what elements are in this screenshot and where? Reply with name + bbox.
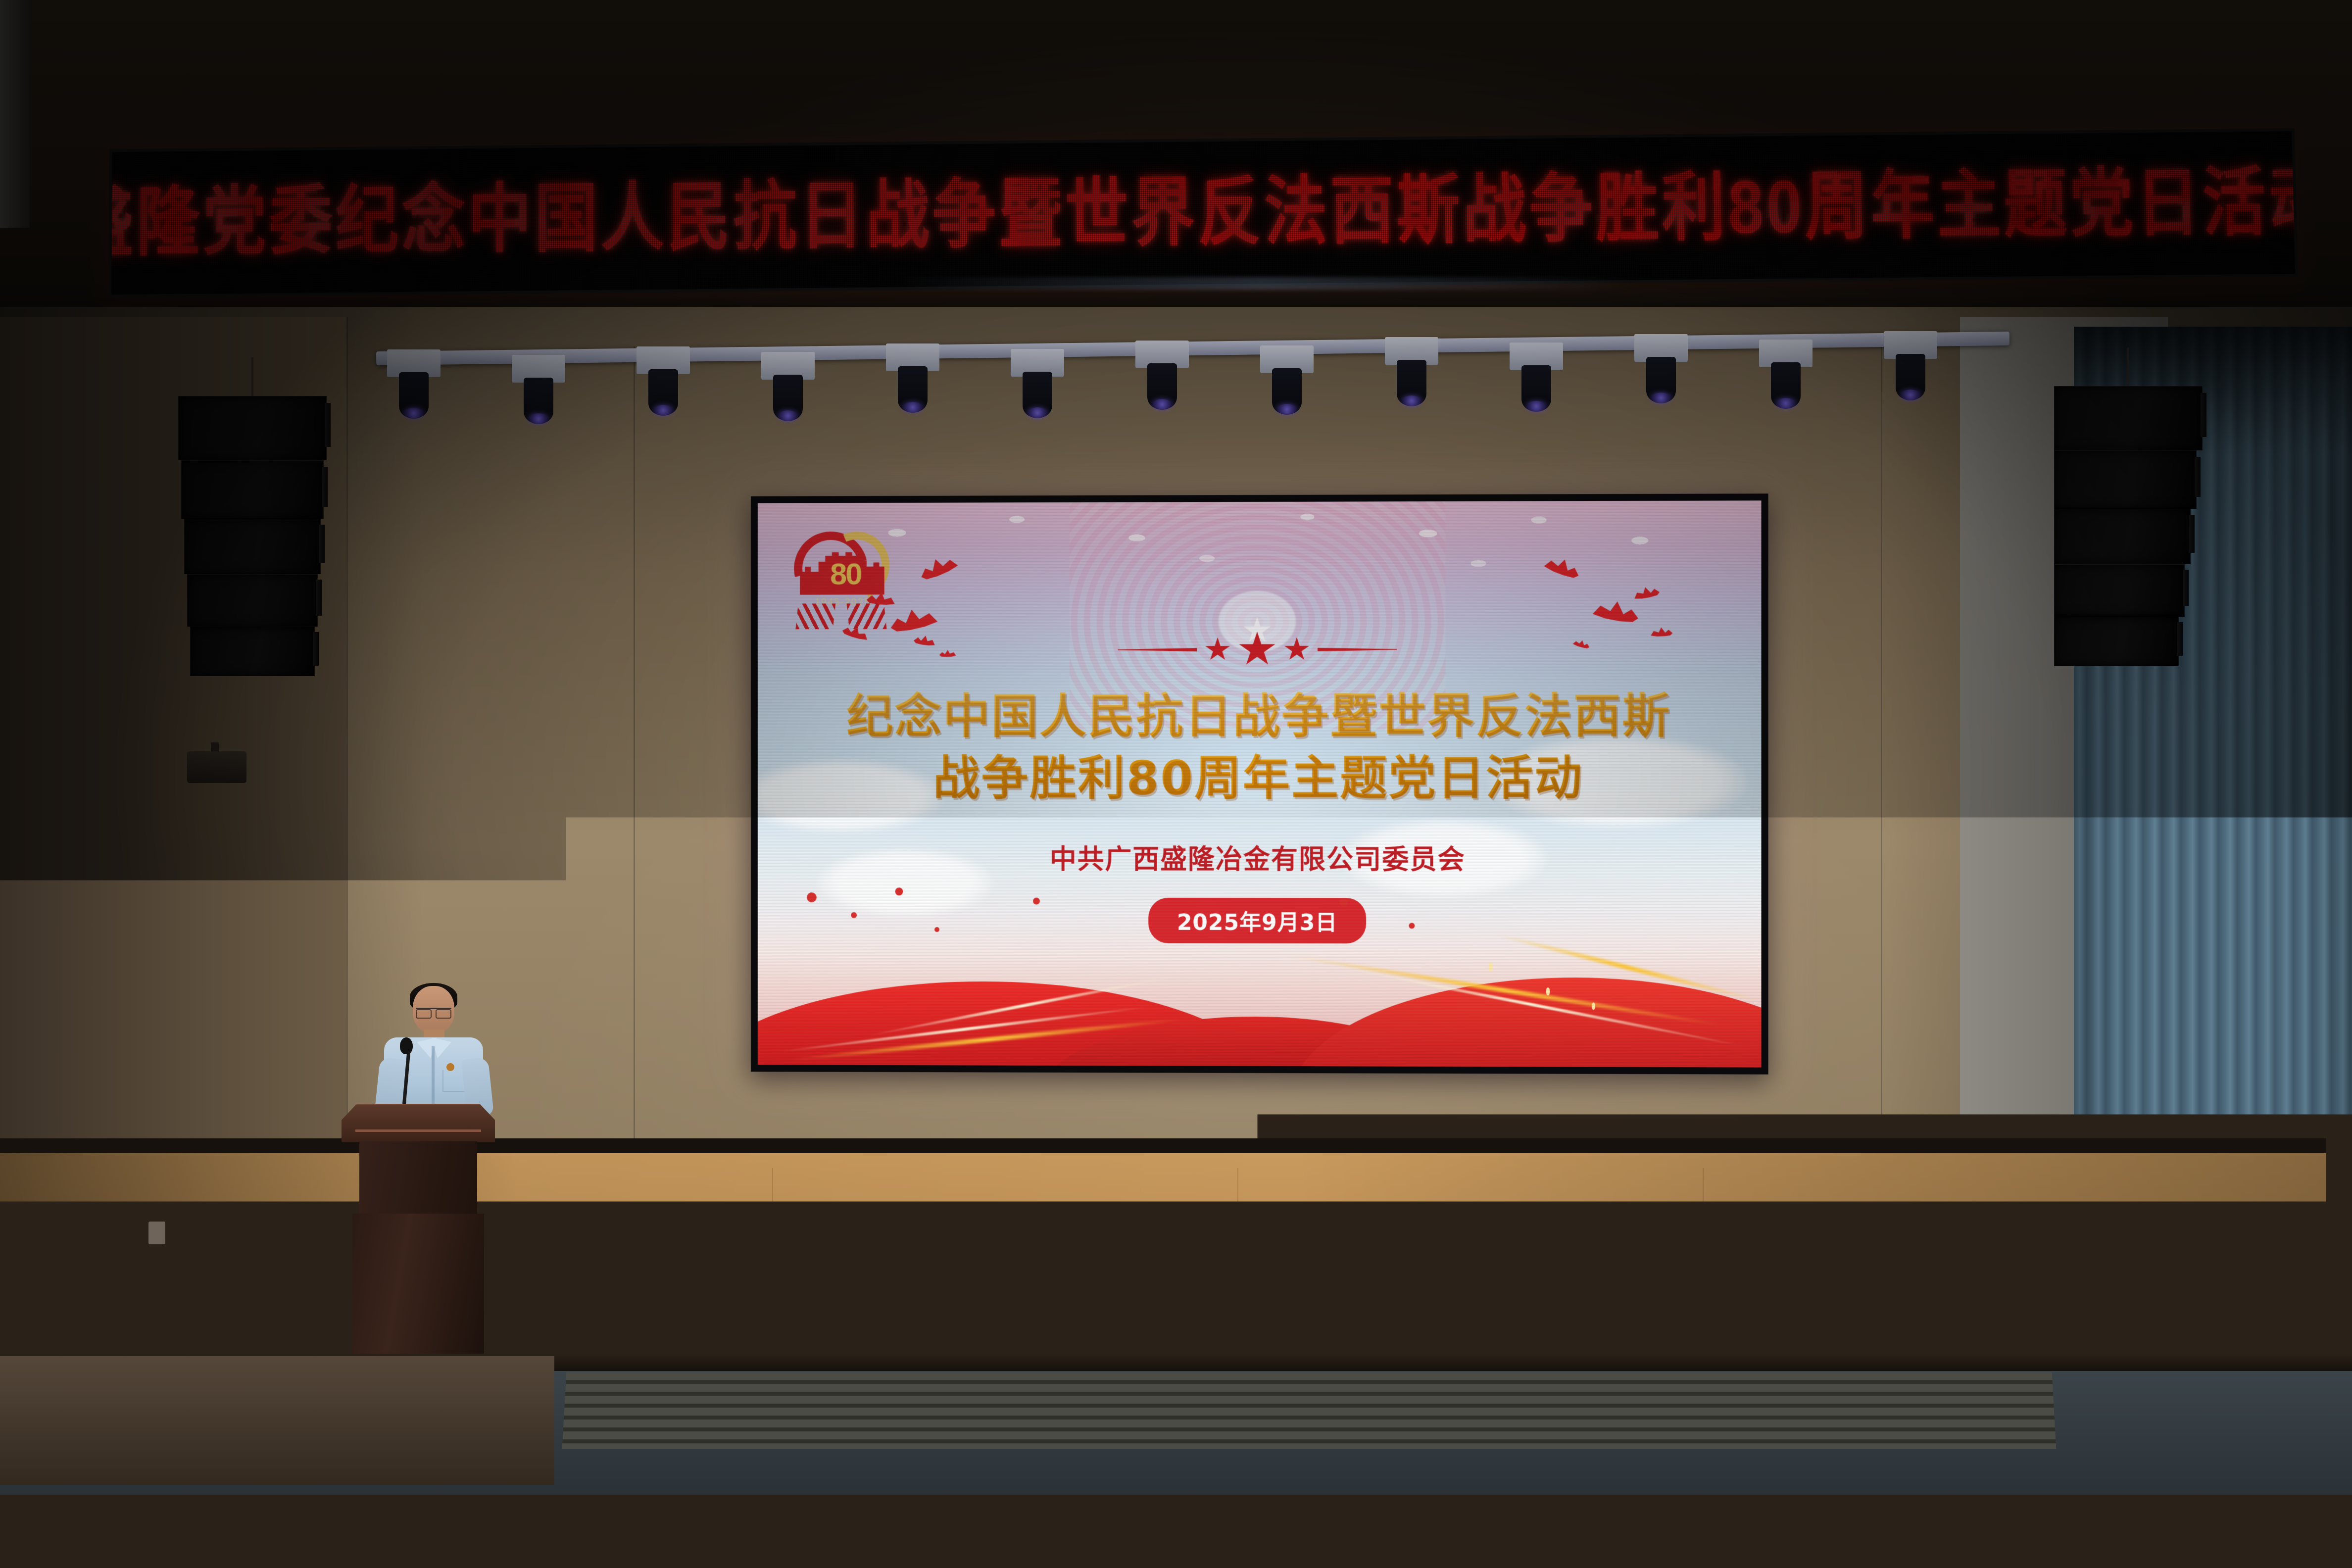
speaker-module	[2054, 386, 2203, 450]
bottle-cap	[1117, 1432, 1126, 1441]
light-lens	[1526, 401, 1546, 412]
audience-head	[1586, 1494, 1670, 1568]
light-lens	[1277, 404, 1297, 415]
podium-mid-section	[359, 1141, 477, 1216]
decor-spark	[1488, 963, 1493, 972]
audience-head	[688, 1502, 763, 1568]
bottle-cap	[268, 1487, 277, 1496]
decor-speck	[851, 912, 857, 918]
light-lens	[1651, 392, 1671, 403]
audience-head	[1287, 1502, 1362, 1568]
led-banner-text: 盛隆党委纪念中国人民抗日战争暨世界反法西斯战争胜利80周年主题党日活动	[111, 165, 2295, 261]
stars-divider	[1118, 632, 1397, 668]
stage-marker	[1730, 1307, 1765, 1317]
light-lens	[1152, 399, 1172, 410]
speaker-module	[2054, 450, 2197, 509]
audience-head	[2188, 1498, 2269, 1568]
microphone-icon	[400, 1037, 413, 1054]
party-badge-icon	[446, 1063, 454, 1071]
decor-speck	[934, 927, 939, 932]
emblem-laurel-left	[795, 603, 835, 629]
speaker-module	[190, 627, 315, 676]
speaker-suspension-wire	[251, 357, 253, 397]
wall-seam	[1881, 346, 1882, 1188]
bottle-cap	[1209, 1428, 1218, 1437]
stage-light-fixture	[1269, 345, 1305, 420]
star-icon	[1284, 637, 1310, 662]
bottle-cap	[1657, 1438, 1666, 1447]
wall-seam	[634, 346, 635, 1158]
decor-speck	[1033, 898, 1040, 905]
light-lens	[1028, 407, 1047, 418]
star-icon	[1205, 637, 1230, 662]
projector-unit	[187, 751, 246, 783]
decor-speck	[807, 892, 817, 902]
speaker-module	[2054, 509, 2191, 564]
light-lens	[1901, 390, 1920, 400]
decor-spark	[1546, 987, 1550, 995]
stage-marker	[587, 1336, 622, 1346]
bottle-cap	[1300, 1430, 1309, 1439]
speaker-module	[2054, 564, 2185, 617]
star-icon	[1238, 632, 1276, 668]
bottle-cap	[1478, 1434, 1487, 1443]
bottle-cap	[756, 1423, 765, 1432]
line-array-speaker-right	[2054, 386, 2203, 666]
bottle-cap	[100, 1492, 109, 1501]
screen-organization: 中共广西盛隆冶金有限公司委员会	[758, 837, 1762, 877]
light-lens	[1402, 395, 1421, 406]
water-bottle	[755, 1431, 766, 1479]
stage-light-fixture	[770, 352, 806, 426]
audience-head	[1888, 1500, 1963, 1568]
speaker-module	[181, 460, 324, 519]
decor-speck	[1409, 923, 1415, 929]
bottle-cap	[1568, 1436, 1576, 1445]
stage-light-fixture	[521, 355, 556, 429]
light-lens	[1776, 398, 1796, 409]
table-mic-socket	[1193, 1465, 1204, 1475]
podium-top-highlight	[355, 1129, 481, 1132]
emblem-number: 80	[825, 559, 867, 590]
stage-light-fixture	[1144, 341, 1180, 415]
podium-top	[342, 1104, 495, 1142]
bottle-cap	[931, 1428, 940, 1437]
divider-line-left	[1118, 648, 1197, 651]
stage-marker	[1404, 1331, 1438, 1341]
water-bottle	[1299, 1438, 1310, 1486]
speaker-suspension-wire	[2127, 347, 2129, 387]
bottle-cap	[1021, 1430, 1029, 1439]
audience-head	[987, 1494, 1072, 1568]
stage-light-fixture	[1394, 337, 1429, 411]
stage-light-fixture	[645, 346, 681, 421]
screen-title: 纪念中国人民抗日战争暨世界反法西斯 战争胜利80周年主题党日活动	[758, 686, 1762, 810]
screen-content: 80 1945-2025	[758, 500, 1762, 1067]
stage-marker	[795, 1287, 830, 1297]
stage-light-fixture	[1519, 343, 1554, 417]
water-bottle	[1388, 1440, 1399, 1488]
wall-seam	[346, 317, 348, 1232]
stage-marker	[1092, 1307, 1127, 1317]
led-banner-inner: 盛隆党委纪念中国人民抗日战争暨世界反法西斯战争胜利80周年主题党日活动	[111, 131, 2295, 294]
glasses-icon	[416, 1008, 451, 1015]
screen-title-line-2: 战争胜利80周年主题党日活动	[758, 748, 1762, 810]
ceiling-left-edge	[0, 0, 30, 228]
decor-speck	[1339, 898, 1348, 907]
ribbon-hill	[1290, 977, 1762, 1068]
main-led-screen: 80 1945-2025	[751, 493, 1768, 1075]
decor-spark	[1592, 1002, 1595, 1010]
led-banner-glow	[891, 277, 1633, 290]
line-array-speaker-left	[178, 396, 327, 676]
emblem-laurel-right	[847, 603, 887, 629]
led-scrolling-banner: 盛隆党委纪念中国人民抗日战争暨世界反法西斯战争胜利80周年主题党日活动	[108, 128, 2298, 297]
audience-head	[391, 1499, 470, 1568]
light-lens	[404, 408, 424, 419]
water-bottle	[1477, 1442, 1488, 1490]
speaker-module	[178, 396, 327, 460]
auditorium-scene: 盛隆党委纪念中国人民抗日战争暨世界反法西斯战争胜利80周年主题党日活动	[0, 0, 2352, 1568]
bottle-cap	[1389, 1432, 1398, 1441]
bottle-cap	[842, 1426, 851, 1435]
stage-light-fixture	[1643, 334, 1679, 408]
anniversary-emblem-icon: 80 1945-2025	[786, 529, 899, 634]
light-lens	[778, 410, 798, 421]
speaker-module	[184, 519, 321, 574]
stage-light-fixture	[1020, 349, 1055, 423]
bottle-cap	[798, 1472, 807, 1481]
stage-light-fixture	[396, 349, 432, 424]
speaker-module	[187, 574, 318, 627]
speaker-module	[2054, 617, 2179, 666]
light-lens	[903, 402, 923, 413]
light-lens	[529, 413, 548, 424]
screen-title-line-1: 纪念中国人民抗日战争暨世界反法西斯	[758, 686, 1762, 748]
red-ribbon-hills-decor	[758, 932, 1762, 1068]
divider-line-right	[1318, 648, 1397, 651]
stage-light-fixture	[1893, 331, 1928, 405]
light-lens	[653, 405, 673, 416]
water-bottle	[1208, 1436, 1219, 1484]
stage-light-fixture	[1768, 340, 1804, 414]
stage-light-fixture	[895, 343, 931, 418]
decor-speck	[895, 887, 903, 895]
